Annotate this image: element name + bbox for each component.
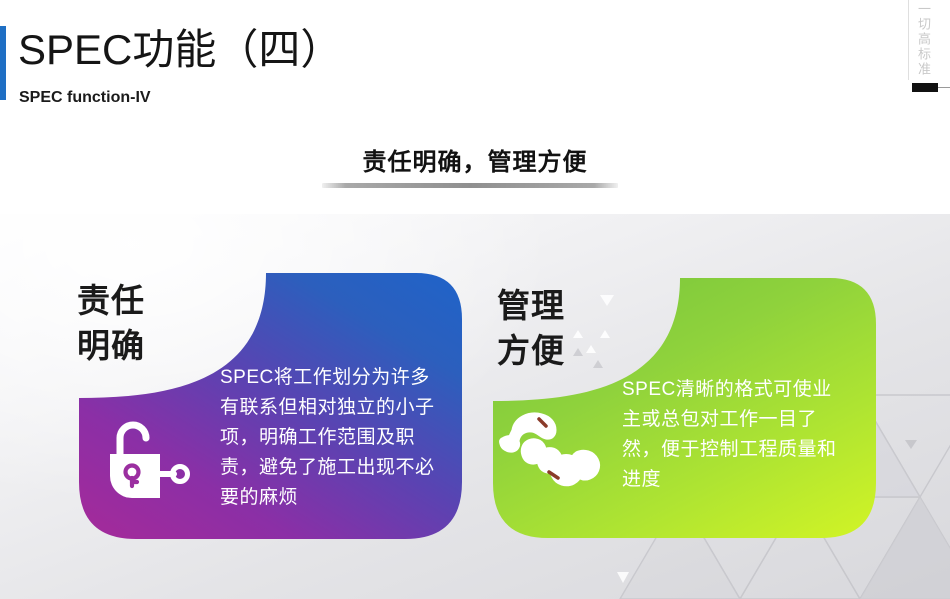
triangle-decoration — [905, 440, 917, 449]
page-title: SPEC功能（四） — [18, 22, 342, 78]
card-responsibility-label: 责任 明确 — [77, 278, 145, 368]
card-responsibility-body: SPEC将工作划分为许多有联系但相对独立的小子项，明确工作范围及职责，避免了施工… — [220, 363, 448, 513]
section-heading-rule — [322, 183, 618, 188]
triangle-decoration — [617, 572, 629, 583]
motto-divider — [908, 0, 909, 80]
motto-block-decoration — [912, 83, 938, 92]
card-management-body: SPEC清晰的格式可使业主或总包对工作一目了然，便于控制工程质量和进度 — [622, 375, 850, 495]
motto-tail-decoration — [938, 87, 950, 88]
page-subtitle: SPEC function-IV — [19, 87, 151, 109]
unlocked-padlock-key-icon — [98, 416, 190, 508]
motto-text: 一切高标准 — [913, 2, 931, 77]
section-heading: 责任明确，管理方便 — [0, 142, 950, 177]
title-accent-bar — [0, 26, 6, 100]
card-management-label: 管理 方便 — [497, 283, 565, 373]
slide-root: SPEC功能（四） SPEC function-IV 一切高标准 责任明确，管理… — [0, 0, 950, 599]
handshake-icon — [498, 404, 608, 500]
